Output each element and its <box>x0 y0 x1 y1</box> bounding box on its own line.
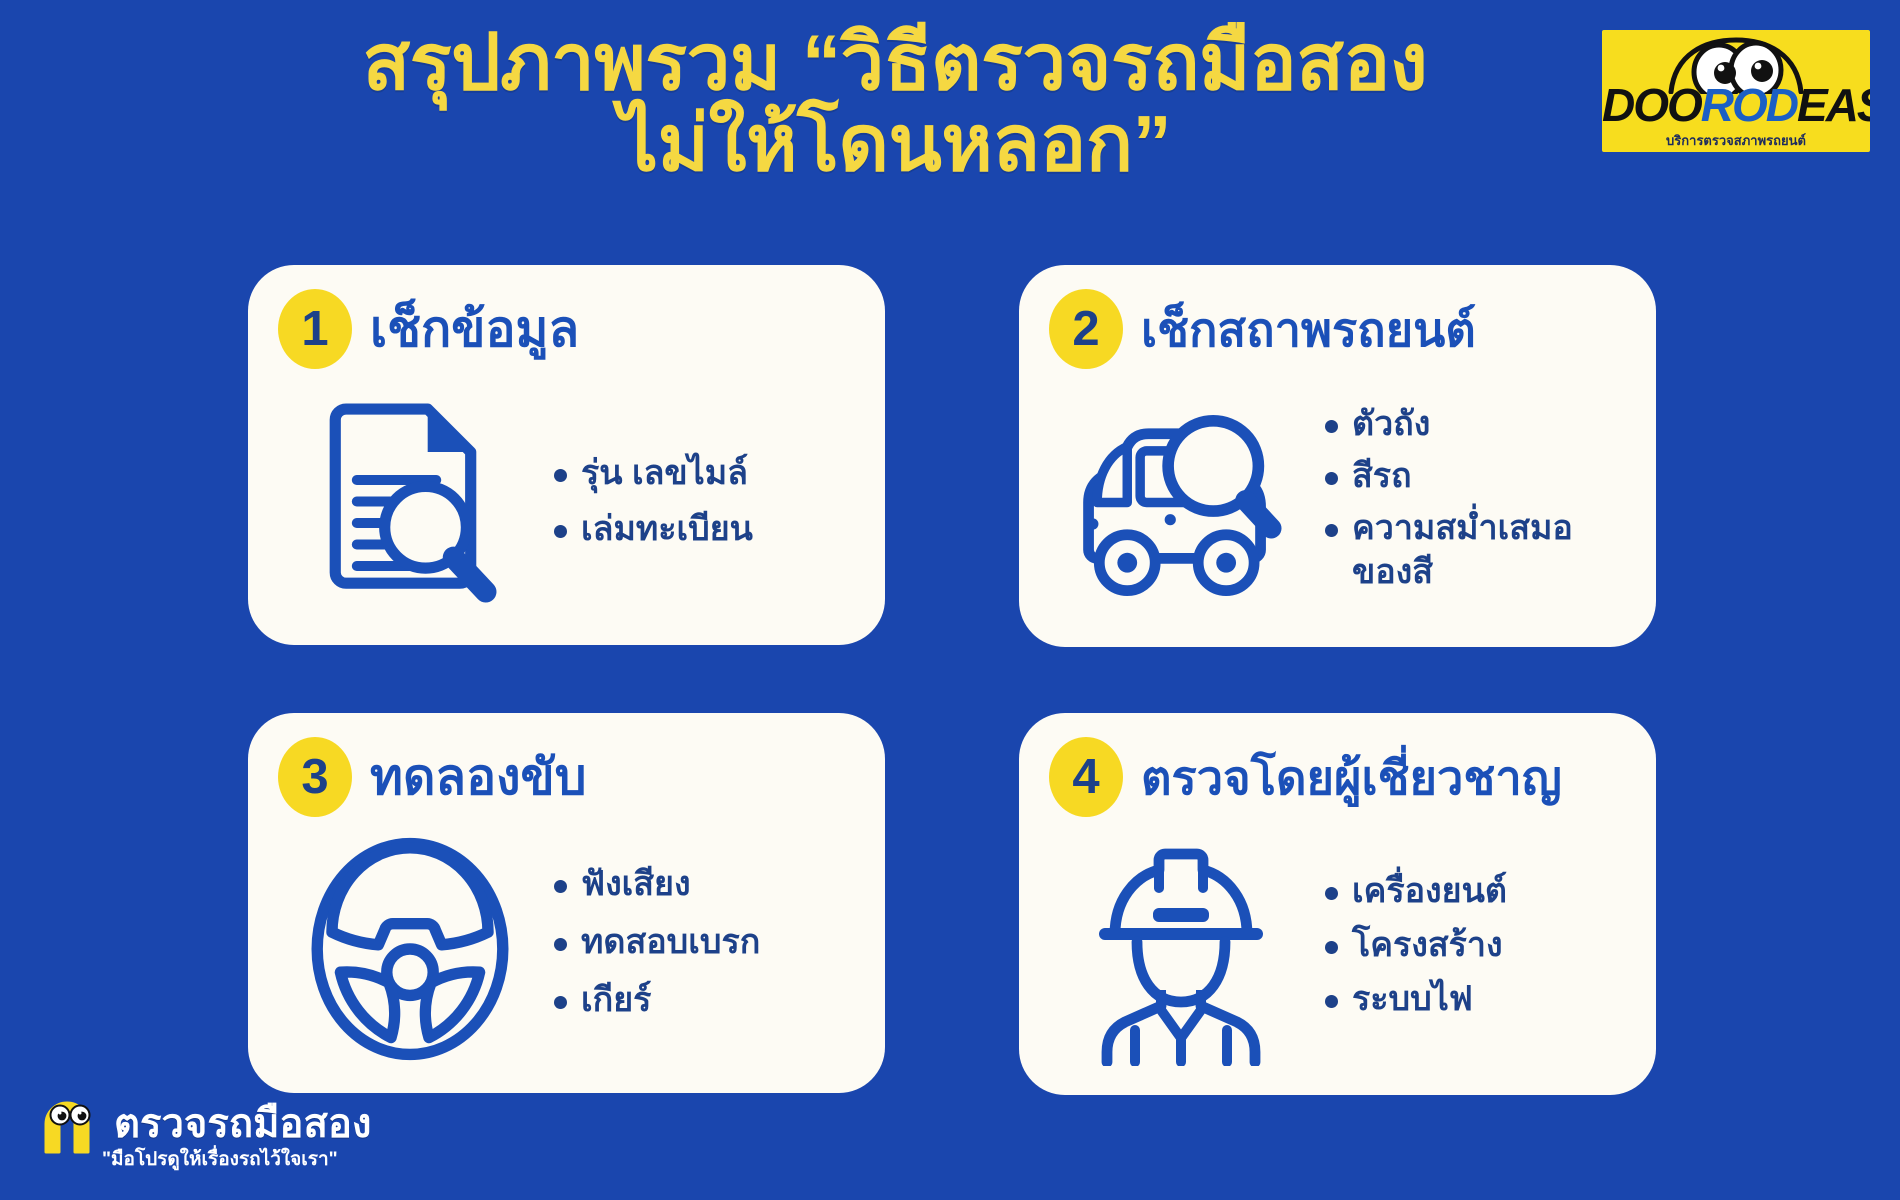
step-card-2-header: 2 เช็กสถาพรถยนต์ <box>1049 287 1476 371</box>
bullet-dot-icon <box>1325 420 1338 433</box>
step-number-badge-1: 1 <box>278 289 352 369</box>
bullet-dot-icon <box>1325 472 1338 485</box>
bullet-item: ความสม่ำเสมอของสี <box>1325 506 1630 594</box>
bullet-item: ทดสอบเบรก <box>554 920 859 964</box>
bullet-item: ระบบไฟ <box>1325 977 1630 1021</box>
step-number-badge-3: 3 <box>278 737 352 817</box>
bullet-dot-icon <box>554 525 567 538</box>
bullet-dot-icon <box>1325 941 1338 954</box>
bullet-dot-icon <box>1325 524 1338 537</box>
step-card-4-body: เครื่องยนต์ โครงสร้าง ระบบไฟ <box>1041 823 1636 1077</box>
bullet-text: สีรถ <box>1352 454 1412 498</box>
page-title-line-1: สรุปภาพรวม “วิธีตรวจรถมือสอง <box>230 22 1560 103</box>
step-bullets-4: เครื่องยนต์ โครงสร้าง ระบบไฟ <box>1321 869 1636 1032</box>
bullet-text: ฟังเสียง <box>581 862 691 906</box>
step-icon-wrap-3 <box>270 823 550 1075</box>
bullet-text: ความสม่ำเสมอของสี <box>1352 506 1630 594</box>
car-magnifier-icon <box>1061 395 1301 610</box>
bullet-item: เครื่องยนต์ <box>1325 869 1630 913</box>
bullet-item: ตัวถัง <box>1325 402 1630 446</box>
bullet-dot-icon <box>554 938 567 951</box>
footer-logo: ตรวจรถมือสอง "มือโปรดูให้เรื่องรถไว้ใจเร… <box>38 1098 368 1184</box>
brand-subtitle: บริการตรวจสภาพรถยนต์ <box>1602 130 1870 151</box>
brand-wordmark: DOORODEASY <box>1602 82 1870 128</box>
step-number-badge-2: 2 <box>1049 289 1123 369</box>
bullet-dot-icon <box>554 469 567 482</box>
bullet-dot-icon <box>1325 995 1338 1008</box>
bullet-item: เล่มทะเบียน <box>554 507 859 551</box>
step-bullets-3: ฟังเสียง ทดสอบเบรก เกียร์ <box>550 862 865 1037</box>
step-title-1: เช็กข้อมูล <box>370 304 579 354</box>
step-card-2: 2 เช็กสถาพรถยนต์ <box>1019 265 1656 647</box>
step-card-3-header: 3 ทดลองขับ <box>278 735 586 819</box>
bullet-item: สีรถ <box>1325 454 1630 498</box>
step-title-2: เช็กสถาพรถยนต์ <box>1141 306 1476 353</box>
bullet-text: ทดสอบเบรก <box>581 920 760 964</box>
step-title-4: ตรวจโดยผู้เชี่ยวชาญ <box>1141 754 1562 801</box>
step-card-1: 1 เช็กข้อมูล <box>248 265 885 645</box>
step-icon-wrap-4 <box>1041 823 1321 1077</box>
brand-logo: DOORODEASY บริการตรวจสภาพรถยนต์ <box>1602 30 1870 152</box>
bullet-text: โครงสร้าง <box>1352 923 1503 967</box>
document-magnifier-icon <box>303 394 518 609</box>
step-bullets-2: ตัวถัง สีรถ ความสม่ำเสมอของสี <box>1321 402 1636 603</box>
step-card-4-header: 4 ตรวจโดยผู้เชี่ยวชาญ <box>1049 735 1562 819</box>
bullet-text: ตัวถัง <box>1352 402 1430 446</box>
inspector-hardhat-icon <box>1081 834 1281 1066</box>
bullet-item: ฟังเสียง <box>554 862 859 906</box>
bullet-text: เกียร์ <box>581 978 651 1022</box>
step-icon-wrap-2 <box>1041 375 1321 629</box>
bullet-dot-icon <box>554 880 567 893</box>
brand-word-end: EASY <box>1797 79 1870 131</box>
step-card-1-header: 1 เช็กข้อมูล <box>278 287 579 371</box>
bullet-dot-icon <box>1325 887 1338 900</box>
bullet-dot-icon <box>554 996 567 1009</box>
step-title-3: ทดลองขับ <box>370 752 586 802</box>
bullet-text: เล่มทะเบียน <box>581 507 753 551</box>
steering-wheel-icon <box>304 833 516 1065</box>
step-card-2-body: ตัวถัง สีรถ ความสม่ำเสมอของสี <box>1041 375 1636 629</box>
step-card-1-body: รุ่น เลขไมล์ เล่มทะเบียน <box>270 375 865 627</box>
mascot-eyes-icon <box>38 1098 110 1154</box>
bullet-text: รุ่น เลขไมล์ <box>581 451 748 495</box>
page-title: สรุปภาพรวม “วิธีตรวจรถมือสอง ไม่ให้โดนหล… <box>230 22 1560 184</box>
step-card-3-body: ฟังเสียง ทดสอบเบรก เกียร์ <box>270 823 865 1075</box>
step-number-badge-4: 4 <box>1049 737 1123 817</box>
steps-grid: 1 เช็กข้อมูล <box>248 265 1656 1093</box>
bullet-item: เกียร์ <box>554 978 859 1022</box>
brand-word-middle: ROD <box>1701 79 1797 131</box>
bullet-item: โครงสร้าง <box>1325 923 1630 967</box>
step-icon-wrap-1 <box>270 375 550 627</box>
page-title-line-2: ไม่ให้โดนหลอก” <box>230 103 1560 184</box>
footer-logo-name: ตรวจรถมือสอง <box>114 1104 371 1144</box>
footer-logo-tagline: "มือโปรดูให้เรื่องรถไว้ใจเรา" <box>102 1150 338 1169</box>
brand-word-start: DOO <box>1602 79 1701 131</box>
step-card-3: 3 ทดลองขับ ฟังเสียง ท <box>248 713 885 1093</box>
step-card-4: 4 ตรวจโดยผู้เชี่ยวชาญ <box>1019 713 1656 1095</box>
bullet-item: รุ่น เลขไมล์ <box>554 451 859 495</box>
bullet-text: เครื่องยนต์ <box>1352 869 1507 913</box>
step-bullets-1: รุ่น เลขไมล์ เล่มทะเบียน <box>550 451 865 551</box>
bullet-text: ระบบไฟ <box>1352 977 1473 1021</box>
page-header: สรุปภาพรวม “วิธีตรวจรถมือสอง ไม่ให้โดนหล… <box>0 0 1900 215</box>
